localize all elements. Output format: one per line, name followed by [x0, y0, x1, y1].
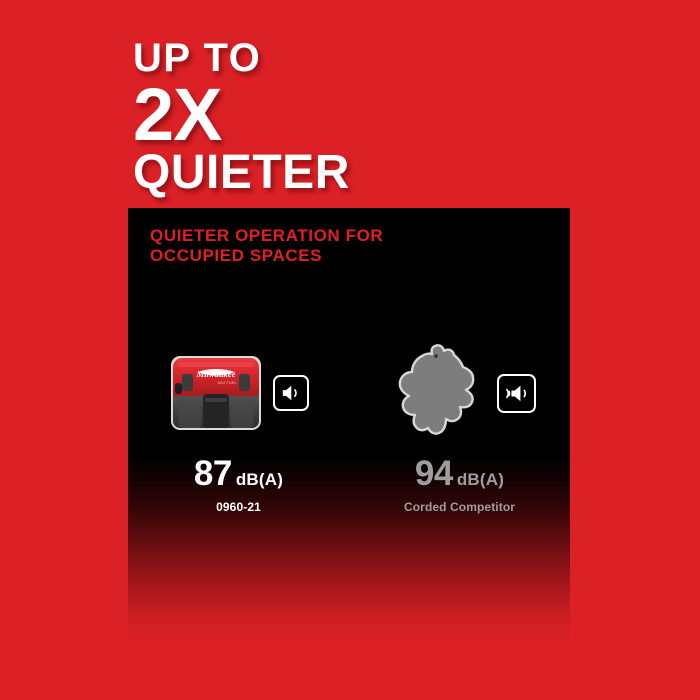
competitor-caption: Corded Competitor: [349, 500, 570, 514]
competitor-visual-row: [349, 328, 570, 458]
headline-block: UP TO 2X QUIETER: [133, 38, 653, 197]
comparison-column-milwaukee: Milwaukee M12 FUEL: [128, 328, 349, 528]
svg-text:M12 FUEL: M12 FUEL: [217, 380, 237, 385]
milwaukee-visual-row: Milwaukee M12 FUEL: [128, 328, 349, 458]
svg-text:Milwaukee: Milwaukee: [195, 369, 235, 379]
milwaukee-readout: 87dB(A) 0960-21: [128, 456, 349, 514]
milwaukee-wet-dry-vacuum-icon: Milwaukee M12 FUEL: [169, 354, 263, 432]
promo-graphic: UP TO 2X QUIETER QUIETER OPERATION FOR O…: [0, 0, 700, 700]
panel-heading: QUIETER OPERATION FOR OCCUPIED SPACES: [150, 226, 383, 266]
speaker-high-volume-icon: [497, 374, 536, 413]
competitor-readout: 94dB(A) Corded Competitor: [349, 456, 570, 514]
milwaukee-db-unit: dB(A): [236, 470, 283, 489]
headline-line-2x: 2X: [133, 78, 653, 152]
competitor-vacuum-silhouette-icon: [383, 341, 487, 445]
headline-line-quieter: QUIETER: [133, 149, 653, 197]
competitor-db-unit: dB(A): [457, 470, 504, 489]
speaker-low-volume-icon: [273, 375, 309, 411]
comparison-panel: QUIETER OPERATION FOR OCCUPIED SPACES: [128, 208, 570, 642]
competitor-db-value: 94: [415, 454, 453, 493]
comparison-columns: Milwaukee M12 FUEL: [128, 328, 570, 528]
comparison-column-competitor: 94dB(A) Corded Competitor: [349, 328, 570, 528]
milwaukee-db-value: 87: [194, 454, 232, 493]
milwaukee-model-caption: 0960-21: [128, 500, 349, 514]
headline-line-up-to: UP TO: [133, 38, 653, 78]
